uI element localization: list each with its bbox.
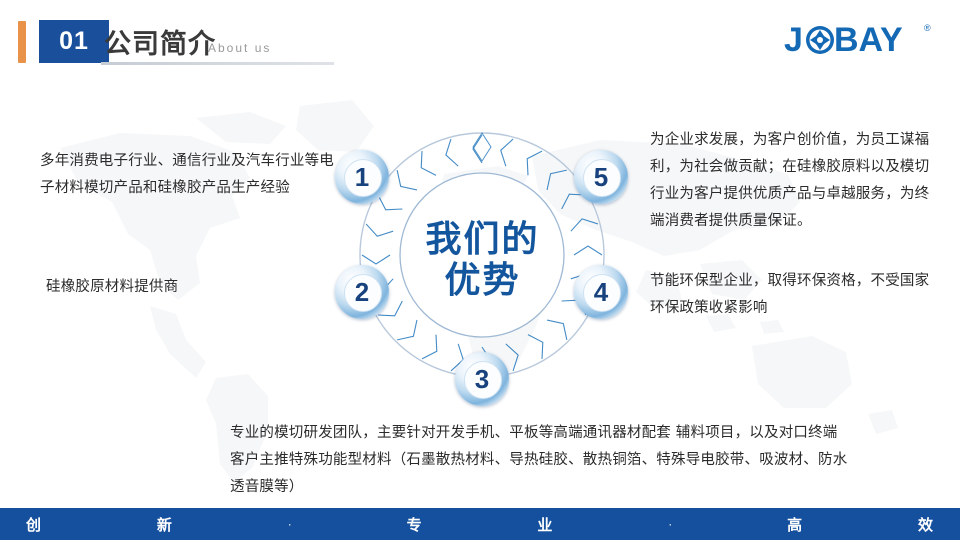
section-number-box: 01 [39, 20, 109, 63]
advantage-text-5: 为企业求发展，为客户创价值，为员工谋福利，为社会做贡献；在硅橡胶原料以及模切行业… [650, 127, 942, 235]
footer-item-4: 业 [537, 514, 553, 535]
registered-trademark-icon: ® [924, 23, 931, 33]
badge-label: 4 [594, 279, 608, 305]
advantage-text-4: 节能环保型企业，取得环保资格，不受国家环保政策收紧影响 [650, 268, 942, 322]
slide-header: 01 公司简介 About us J BAY ® [0, 0, 960, 80]
badge-label: 3 [475, 366, 489, 392]
jobay-logo-mark: J BAY ® [784, 19, 936, 63]
badge-label: 5 [594, 164, 608, 190]
advantage-text-3: 专业的模切研发团队，主要针对开发手机、平板等高端通讯器材配套 辅料项目，以及对口… [230, 420, 850, 501]
section-number-label: 01 [59, 27, 89, 56]
badge-3[interactable]: 3 [455, 352, 509, 406]
badge-label: 1 [355, 164, 369, 190]
slide-footer: 创 新 · 专 业 · 高 效 [0, 508, 960, 540]
page-title: 公司简介 [104, 22, 216, 61]
company-logo: J BAY ® [784, 20, 936, 62]
title-underline [101, 62, 334, 65]
badge-5[interactable]: 5 [574, 150, 628, 204]
orange-accent-bar [18, 21, 26, 63]
footer-item-0: 创 [26, 514, 42, 535]
svg-text:J: J [784, 21, 803, 59]
footer-item-5: · [668, 517, 672, 531]
badge-1[interactable]: 1 [335, 150, 389, 204]
advantage-text-2: 硅橡胶原材料提供商 [46, 274, 346, 301]
badge-4[interactable]: 4 [574, 265, 628, 319]
footer-item-7: 效 [918, 514, 934, 535]
footer-item-2: · [288, 517, 292, 531]
page-subtitle: About us [208, 41, 271, 55]
footer-item-3: 专 [407, 514, 423, 535]
slide-canvas: 01 公司简介 About us J BAY ® [0, 0, 960, 540]
footer-item-6: 高 [787, 514, 803, 535]
badge-label: 2 [355, 279, 369, 305]
advantage-text-1: 多年消费电子行业、通信行业及汽车行业等电子材料模切产品和硅橡胶产品生产经验 [40, 148, 340, 202]
svg-text:BAY: BAY [834, 21, 903, 59]
footer-item-1: 新 [157, 514, 173, 535]
